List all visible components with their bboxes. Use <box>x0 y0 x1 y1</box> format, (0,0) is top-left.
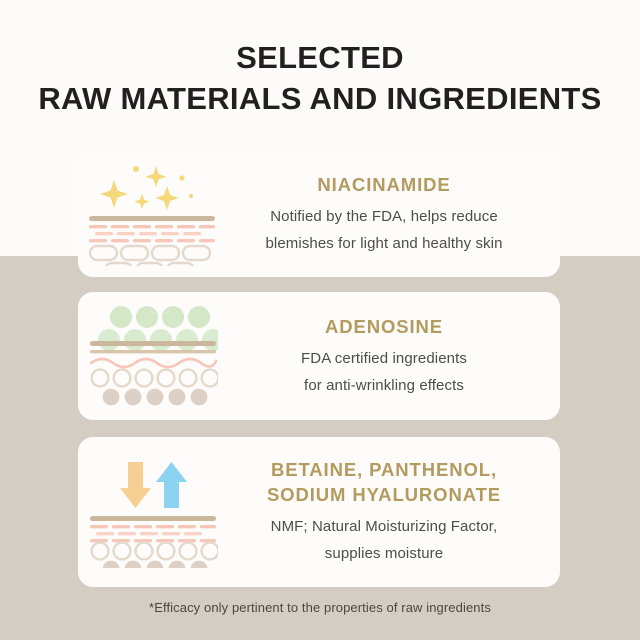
card-icon-container <box>78 292 230 420</box>
arrow-up-icon <box>156 462 187 508</box>
card-desc-line-2: supplies moisture <box>230 540 538 567</box>
card-text-container: ADENOSINE FDA certified ingredients for … <box>230 314 560 399</box>
skin-layers-moisture-arrows-icon <box>90 456 218 568</box>
page-title-line-2: RAW MATERIALS AND INGREDIENTS <box>0 78 640 120</box>
card-title-betaine-panthenol-sodium-hyaluronate: BETAINE, PANTHENOL, SODIUM HYALURONATE <box>230 457 538 507</box>
card-desc-line-1: FDA certified ingredients <box>230 345 538 372</box>
card-description-adenosine: FDA certified ingredients for anti-wrink… <box>230 345 538 399</box>
arrow-down-icon <box>120 462 151 508</box>
card-icon-container <box>78 437 230 587</box>
skin-layers-green-cells-icon <box>90 305 218 407</box>
card-icon-container <box>78 151 230 277</box>
card-text-container: BETAINE, PANTHENOL, SODIUM HYALURONATE N… <box>230 457 560 567</box>
page-title: SELECTED RAW MATERIALS AND INGREDIENTS <box>0 38 640 120</box>
card-title-adenosine: ADENOSINE <box>230 314 538 339</box>
card-title-line-2: SODIUM HYALURONATE <box>230 482 538 507</box>
card-desc-line-2: blemishes for light and healthy skin <box>230 230 538 257</box>
skin-layers-sparkle-icon <box>89 162 219 266</box>
card-desc-line-2: for anti-wrinkling effects <box>230 372 538 399</box>
card-title-line-1: BETAINE, PANTHENOL, <box>230 457 538 482</box>
ingredient-card-betaine-panthenol-sodium-hyaluronate: BETAINE, PANTHENOL, SODIUM HYALURONATE N… <box>78 437 560 587</box>
card-desc-line-1: NMF; Natural Moisturizing Factor, <box>230 513 538 540</box>
ingredient-card-adenosine: ADENOSINE FDA certified ingredients for … <box>78 292 560 420</box>
card-description-betaine-panthenol-sodium-hyaluronate: NMF; Natural Moisturizing Factor, suppli… <box>230 513 538 567</box>
footnote-disclaimer: *Efficacy only pertinent to the properti… <box>0 600 640 615</box>
card-description-niacinamide: Notified by the FDA, helps reduce blemis… <box>230 203 538 257</box>
ingredient-card-niacinamide: NIACINAMIDE Notified by the FDA, helps r… <box>78 151 560 277</box>
card-desc-line-1: Notified by the FDA, helps reduce <box>230 203 538 230</box>
card-text-container: NIACINAMIDE Notified by the FDA, helps r… <box>230 172 560 257</box>
card-title-niacinamide: NIACINAMIDE <box>230 172 538 197</box>
infographic-page: SELECTED RAW MATERIALS AND INGREDIENTS <box>0 0 640 640</box>
page-title-line-1: SELECTED <box>0 38 640 78</box>
